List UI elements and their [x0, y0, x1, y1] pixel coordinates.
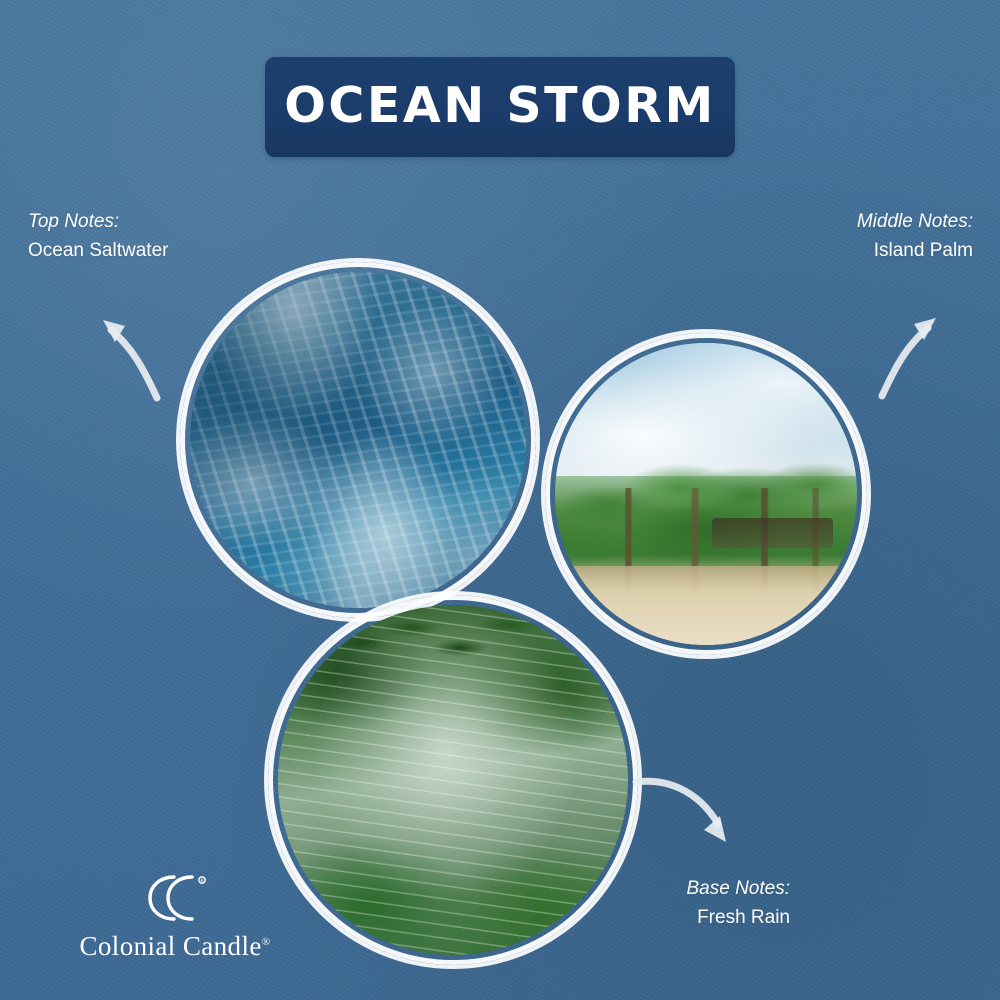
brand-name: Colonial Candle	[80, 931, 262, 961]
svg-text:R: R	[200, 879, 204, 885]
page-title: OCEAN STORM	[284, 81, 715, 134]
brand-wordmark: Colonial Candle®	[60, 931, 290, 962]
title-banner: OCEAN STORM	[265, 57, 735, 157]
base-notes-value: Fresh Rain	[687, 903, 791, 932]
registered-trademark: ®	[262, 936, 271, 948]
base-notes-title: Base Notes:	[687, 874, 791, 903]
middle-notes-title: Middle Notes:	[857, 207, 973, 236]
top-notes-label: Top Notes: Ocean Saltwater	[28, 207, 168, 265]
curved-arrow-up-left-icon	[95, 312, 167, 402]
curved-arrow-down-right-icon	[632, 772, 742, 852]
middle-notes-label: Middle Notes: Island Palm	[857, 207, 973, 265]
scent-notes-infographic: OCEAN STORM Top Notes: Ocean Saltwater M…	[0, 0, 1000, 1000]
circle-outer-ring	[268, 595, 638, 965]
top-notes-image-circle	[180, 262, 536, 618]
base-notes-label: Base Notes: Fresh Rain	[687, 874, 791, 932]
curved-arrow-up-right-icon	[872, 310, 944, 400]
base-notes-image-circle	[268, 595, 638, 965]
top-notes-title: Top Notes:	[28, 207, 168, 236]
colonial-candle-monogram-icon: R	[142, 871, 208, 925]
circle-outer-ring	[180, 262, 536, 618]
top-notes-value: Ocean Saltwater	[28, 236, 168, 265]
middle-notes-value: Island Palm	[857, 236, 973, 265]
brand-logo: R Colonial Candle®	[60, 871, 290, 962]
